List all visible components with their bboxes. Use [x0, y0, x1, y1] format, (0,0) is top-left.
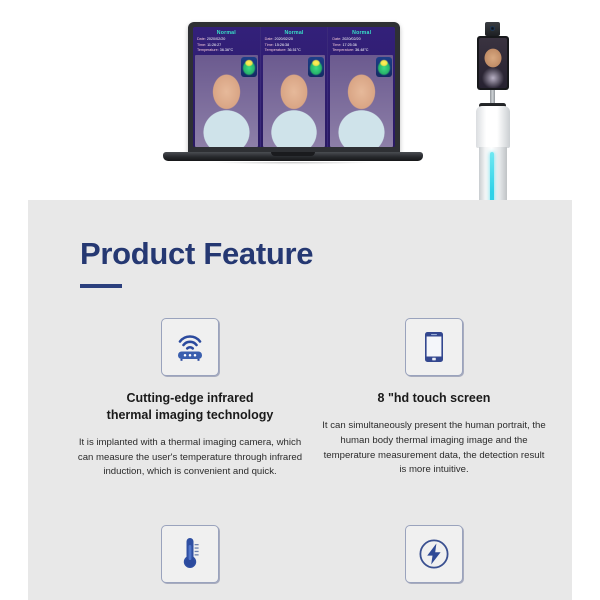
feature-description: It is implanted with a thermal imaging c… — [78, 436, 303, 481]
section-heading: Product Feature — [80, 236, 313, 288]
wifi-router-icon — [161, 318, 219, 376]
thermal-temperature-kiosk-stand — [455, 22, 535, 200]
temperature-label: Temperature: — [265, 48, 287, 52]
date-value: 2020/02/20 — [342, 37, 360, 41]
date-row: Date: 2020/02/20 — [332, 37, 395, 41]
feature-description: It can simultaneously present the human … — [322, 419, 547, 478]
status-badge: Normal — [328, 30, 395, 36]
date-label: Date: — [197, 37, 206, 41]
thermal-face-image — [376, 57, 392, 77]
laptop-hinge-notch — [271, 152, 315, 156]
date-label: Date: — [332, 37, 341, 41]
temperature-value: 36.51°C — [287, 48, 300, 52]
time-row: Time: 11:26:27 — [197, 43, 260, 47]
date-value: 2020/02/20 — [207, 37, 225, 41]
time-value: 17:25:36 — [342, 43, 356, 47]
kiosk-led-strip — [490, 152, 494, 200]
temperature-row: Temperature: 36.36°C — [197, 48, 260, 52]
feature-card-infrared: Cutting-edge infrared thermal imaging te… — [68, 318, 312, 480]
laptop-screen: Normal Date: 2020/02/20 Time: 11:26:27 T… — [193, 27, 395, 147]
lightning-bolt-circle-icon — [405, 525, 463, 583]
lightning-bolt-circle-glyph — [417, 537, 451, 571]
time-value: 15:26:38 — [275, 43, 289, 47]
thermal-result-panel: Normal Date: 2020/02/20 Time: 15:26:38 T… — [261, 27, 329, 147]
feature-title-line1: Cutting-edge infrared — [126, 391, 253, 405]
feature-title-line2: thermal imaging technology — [107, 408, 274, 422]
date-row: Date: 2020/02/20 — [197, 37, 260, 41]
laptop-lid: Normal Date: 2020/02/20 Time: 11:26:27 T… — [188, 22, 400, 154]
status-badge: Normal — [193, 30, 260, 36]
temperature-label: Temperature: — [332, 48, 354, 52]
thermal-face-image — [308, 57, 324, 77]
smartphone-icon — [405, 318, 463, 376]
temperature-row: Temperature: 36.48°C — [332, 48, 395, 52]
thermometer-icon — [161, 525, 219, 583]
kiosk-dispenser-housing — [476, 106, 510, 148]
temperature-row: Temperature: 36.51°C — [265, 48, 328, 52]
time-value: 11:26:27 — [207, 43, 221, 47]
hero-product-image: Normal Date: 2020/02/20 Time: 11:26:27 T… — [0, 0, 600, 200]
time-label: Time: — [332, 43, 341, 47]
temperature-label: Temperature: — [197, 48, 219, 52]
time-row: Time: 15:26:38 — [265, 43, 328, 47]
date-row: Date: 2020/02/20 — [265, 37, 328, 41]
page-title: Product Feature — [80, 236, 313, 272]
date-value: 2020/02/20 — [275, 37, 293, 41]
thermal-face-image — [241, 57, 257, 77]
temperature-value: 36.48°C — [355, 48, 368, 52]
status-badge: Normal — [261, 30, 328, 36]
date-label: Date: — [265, 37, 274, 41]
kiosk-neck — [490, 90, 495, 104]
time-label: Time: — [265, 43, 274, 47]
temperature-value: 36.36°C — [220, 48, 233, 52]
title-underline-rule — [80, 284, 122, 288]
smartphone-glyph — [423, 331, 445, 363]
kiosk-camera-icon — [485, 22, 500, 36]
product-feature-section: Product Feature Cutting-edge infrared th… — [28, 200, 572, 600]
laptop-shadow — [175, 162, 411, 169]
kiosk-tablet-screen — [479, 38, 507, 88]
feature-title: Cutting-edge infrared thermal imaging te… — [83, 390, 298, 424]
thermometer-glyph — [177, 536, 203, 572]
wifi-router-glyph — [173, 332, 207, 362]
kiosk-tablet — [477, 36, 509, 90]
thermal-result-panel: Normal Date: 2020/02/20 Time: 11:26:27 T… — [193, 27, 261, 147]
feature-title-line1: 8 "hd touch screen — [378, 391, 491, 405]
laptop-thermal-software: Normal Date: 2020/02/20 Time: 11:26:27 T… — [163, 22, 423, 192]
thermal-result-panel: Normal Date: 2020/02/20 Time: 17:25:36 T… — [328, 27, 395, 147]
feature-card-temperature — [68, 525, 312, 583]
time-label: Time: — [197, 43, 206, 47]
feature-card-power — [312, 525, 556, 583]
feature-card-touchscreen: 8 "hd touch screen It can simultaneously… — [312, 318, 556, 478]
feature-title: 8 "hd touch screen — [327, 390, 542, 407]
time-row: Time: 17:25:36 — [332, 43, 395, 47]
